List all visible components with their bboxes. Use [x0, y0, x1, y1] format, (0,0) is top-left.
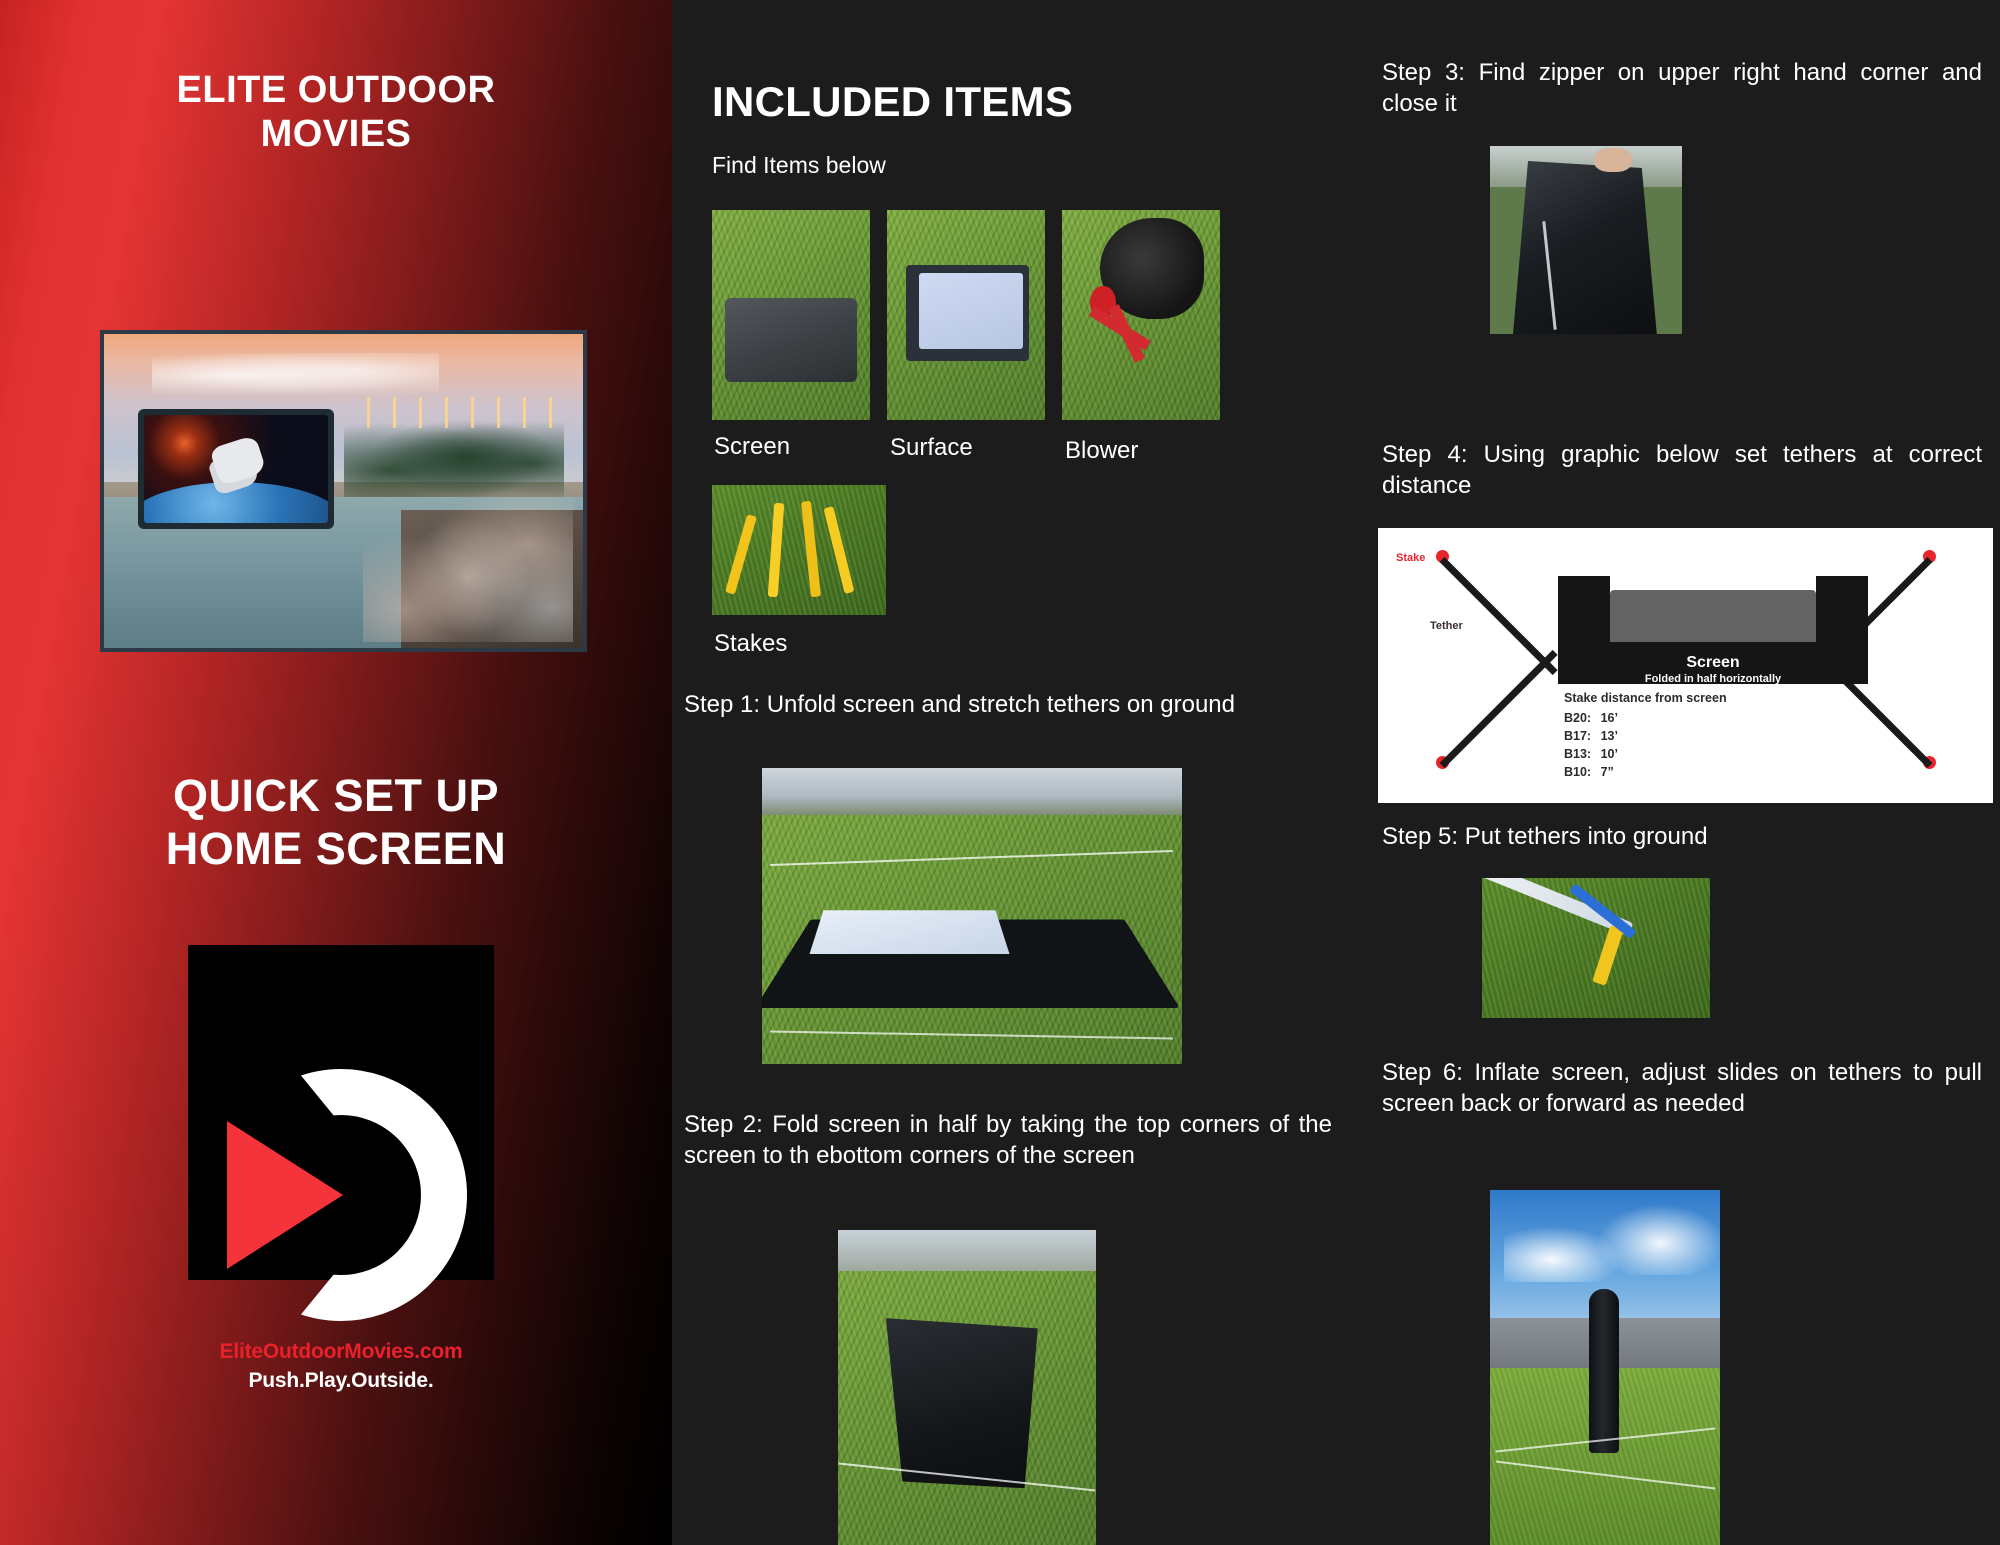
play-triangle-icon [227, 1121, 343, 1269]
company-logo: EliteOutdoorMovies.com Push.Play.Outside… [188, 945, 494, 1280]
surface-tarp-shape [919, 273, 1023, 349]
brand-title-line2: MOVIES [0, 112, 672, 156]
item-label-blower: Blower [1065, 437, 1138, 465]
hero-string-lights [367, 397, 568, 428]
hero-inflatable-screen [138, 409, 334, 528]
tether-line-top-left [1440, 557, 1558, 675]
step-3-photo [1490, 146, 1682, 334]
step1-tether-line-bottom [770, 1031, 1173, 1040]
step3-hand [1594, 148, 1632, 172]
diagram-tether-label: Tether [1430, 620, 1463, 632]
hero-astronaut-graphic [209, 435, 267, 487]
stake-distance-row: B13: 10’ [1564, 745, 1618, 763]
logo-tagline: Push.Play.Outside. [188, 1369, 494, 1393]
left-brand-panel: ELITE OUTDOOR MOVIES QUICK SET UP HOME S… [0, 0, 672, 1545]
item-label-stakes: Stakes [714, 630, 787, 658]
tether-distance-diagram: Stake Tether Screen Folded in half horiz… [1378, 528, 1993, 803]
stake-distance-value: 10’ [1601, 747, 1618, 761]
find-items-subheading: Find Items below [712, 152, 886, 179]
stake-distance-row: B10: 7” [1564, 763, 1618, 781]
stake-distance-value: 16’ [1601, 711, 1618, 725]
step-4-text: Step 4: Using graphic below set tethers … [1382, 440, 1982, 501]
stake-distance-model: B20: [1564, 711, 1591, 725]
step1-background-buildings [762, 768, 1182, 815]
tether-line-bottom-left [1440, 650, 1558, 768]
item-photo-blower [1062, 210, 1220, 420]
stake-distance-row: B20: 16’ [1564, 709, 1618, 727]
brand-title-line1: ELITE OUTDOOR [0, 68, 672, 112]
item-photo-stakes [712, 485, 886, 615]
stake-distance-model: B17: [1564, 729, 1591, 743]
step2-folded-screen [879, 1318, 1044, 1488]
screen-bag-shape [725, 298, 858, 382]
stake-distance-model: B10: [1564, 765, 1591, 779]
poster-root: ELITE OUTDOOR MOVIES QUICK SET UP HOME S… [0, 0, 2000, 1545]
step-6-text: Step 6: Inflate screen, adjust slides on… [1382, 1058, 1982, 1119]
hero-outdoor-movie-photo [100, 330, 587, 652]
screen-fabric-area [1610, 590, 1816, 642]
step-2-photo [838, 1230, 1096, 1545]
quick-setup-title: QUICK SET UP HOME SCREEN [0, 770, 672, 875]
diagram-stake-label: Stake [1396, 552, 1425, 564]
step1-tether-line-top [770, 850, 1173, 866]
main-content: INCLUDED ITEMS Find Items below Screen S… [672, 0, 2000, 1545]
quick-setup-line1: QUICK SET UP [0, 770, 672, 823]
included-items-heading: INCLUDED ITEMS [712, 78, 1073, 126]
stake-distance-row: B17: 13’ [1564, 727, 1618, 745]
diagram-screen-sublabel: Folded in half horizontally [1558, 673, 1868, 685]
step6-cloud-2 [1596, 1204, 1720, 1275]
hero-screen-image [144, 415, 328, 522]
yellow-stake-4 [823, 506, 855, 594]
logo-website-url: EliteOutdoorMovies.com [188, 1340, 494, 1364]
step3-screen-fabric [1513, 161, 1663, 334]
yellow-stake-3 [801, 500, 821, 597]
step-1-photo [762, 768, 1182, 1064]
stake-distance-model: B13: [1564, 747, 1591, 761]
middle-column: INCLUDED ITEMS Find Items below Screen S… [700, 0, 1350, 1545]
step5-yellow-stake [1592, 925, 1623, 985]
yellow-stake-2 [768, 503, 785, 597]
brand-title: ELITE OUTDOOR MOVIES [0, 68, 672, 157]
item-label-surface: Surface [890, 434, 973, 462]
step-5-photo [1482, 878, 1710, 1018]
stake-distance-value: 7” [1601, 765, 1614, 779]
hero-clouds [152, 353, 439, 397]
hero-crowd [363, 478, 574, 641]
step-2-text: Step 2: Fold screen in half by taking th… [684, 1110, 1332, 1171]
stake-distance-value: 13’ [1601, 729, 1618, 743]
item-label-screen: Screen [714, 433, 790, 461]
quick-setup-line2: HOME SCREEN [0, 823, 672, 876]
step2-fence-background [838, 1230, 1096, 1271]
hero-earth-graphic [144, 482, 328, 523]
yellow-stake-1 [725, 514, 757, 594]
item-photo-screen [712, 210, 870, 420]
step-3-text: Step 3: Find zipper on upper right hand … [1382, 58, 1982, 119]
diagram-screen-label: Screen [1558, 654, 1868, 672]
right-column: Step 3: Find zipper on upper right hand … [1372, 0, 2000, 1545]
stake-distance-heading: Stake distance from screen [1564, 691, 1727, 705]
step-5-text: Step 5: Put tethers into ground [1382, 822, 1982, 853]
step6-inflated-screen [1589, 1289, 1619, 1452]
play-circle-logo-icon [215, 1069, 467, 1321]
step1-white-surface [809, 911, 1009, 955]
step-1-text: Step 1: Unfold screen and stretch tether… [684, 690, 1329, 721]
stake-distance-list: B20: 16’ B17: 13’ B13: 10’ B10: 7” [1564, 709, 1618, 782]
item-photo-surface [887, 210, 1045, 420]
step-6-photo [1490, 1190, 1720, 1545]
